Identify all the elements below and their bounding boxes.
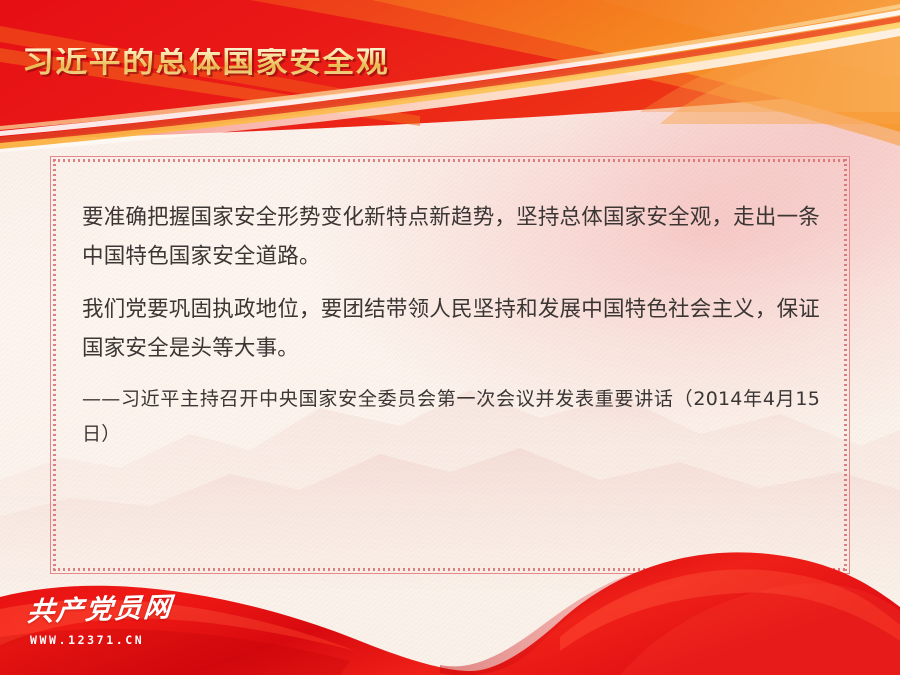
site-logo-url: WWW.12371.CN	[30, 633, 246, 647]
quote-frame: 要准确把握国家安全形势变化新特点新趋势，坚持总体国家安全观，走出一条中国特色国家…	[50, 156, 850, 574]
quote-paragraph-1: 要准确把握国家安全形势变化新特点新趋势，坚持总体国家安全观，走出一条中国特色国家…	[82, 198, 820, 276]
site-logo-wordmark: 共产党员网	[26, 591, 249, 626]
quote-attribution: ——习近平主持召开中央国家安全委员会第一次会议并发表重要讲话（2014年4月15…	[82, 382, 820, 452]
poster-canvas: 习近平的总体国家安全观 要准确把握国家安全形势变化新特点新趋势，坚持总体国家安全…	[0, 0, 900, 675]
header-banner: 习近平的总体国家安全观	[0, 0, 900, 152]
quote-text-block: 要准确把握国家安全形势变化新特点新趋势，坚持总体国家安全观，走出一条中国特色国家…	[82, 198, 820, 452]
site-logo[interactable]: 共产党员网 WWW.12371.CN	[26, 599, 246, 647]
page-title: 习近平的总体国家安全观	[22, 48, 389, 78]
quote-paragraph-2: 我们党要巩固执政地位，要团结带领人民坚持和发展中国特色社会主义，保证国家安全是头…	[82, 290, 820, 368]
